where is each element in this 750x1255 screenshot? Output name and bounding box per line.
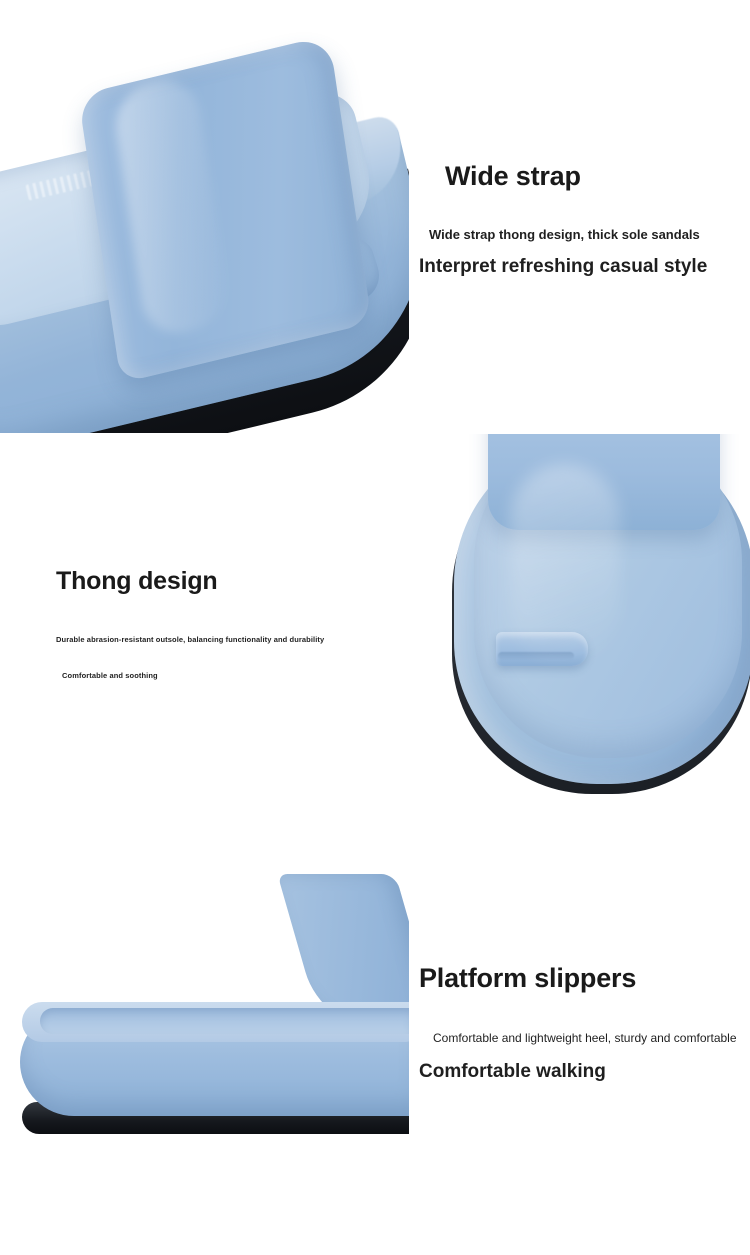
subline-platform-slippers-2: Comfortable walking (419, 1059, 750, 1085)
surface-highlight (510, 464, 620, 664)
subline-platform-slippers-1: Comfortable and lightweight heel, sturdy… (433, 1030, 750, 1047)
text-block-platform-slippers: Platform slippers Comfortable and lightw… (419, 962, 750, 1085)
product-photo-platform-slippers (0, 862, 409, 1152)
photo-stage (0, 28, 409, 433)
subline-thong-design-1: Durable abrasion-resistant outsole, bala… (56, 634, 396, 645)
text-block-thong-design: Thong design Durable abrasion-resistant … (56, 566, 396, 681)
heading-wide-strap: Wide strap (445, 160, 750, 192)
wide-strap-shape (78, 35, 372, 383)
heading-platform-slippers: Platform slippers (419, 962, 750, 994)
footbed-shape (40, 1008, 409, 1034)
subline-wide-strap-1: Wide strap thong design, thick sole sand… (429, 226, 750, 244)
subline-wide-strap-2: Interpret refreshing casual style (419, 254, 750, 280)
heading-thong-design: Thong design (56, 566, 396, 596)
product-photo-thong-design (414, 434, 750, 794)
text-block-wide-strap: Wide strap Wide strap thong design, thic… (419, 160, 750, 280)
product-detail-page: Wide strap Wide strap thong design, thic… (0, 0, 750, 1255)
product-photo-wide-strap (0, 28, 409, 433)
subline-thong-design-2: Comfortable and soothing (62, 670, 396, 681)
